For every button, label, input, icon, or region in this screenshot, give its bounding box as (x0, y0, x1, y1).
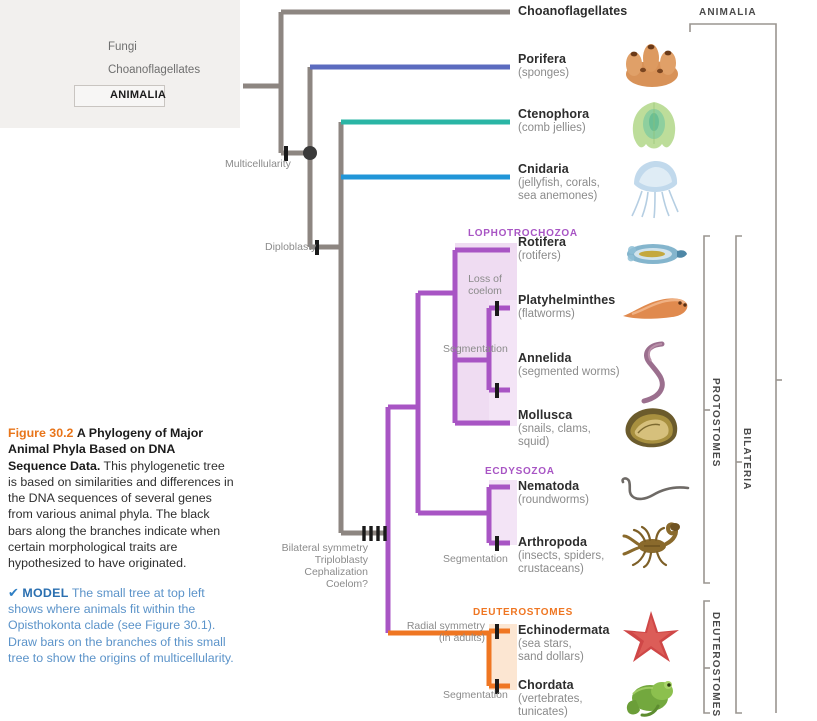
figure-number: Figure 30.2 (8, 426, 73, 440)
taxon-common-arthropoda-1: (insects, spiders, (518, 550, 604, 564)
inset-label-fungi: Fungi (108, 41, 137, 53)
trait-label-loss-of-coelom-2: coelom (457, 285, 513, 297)
trait-label-segmentation-annelida: Segmentation (443, 343, 508, 355)
bracket-label-deuterostomes: DEUTEROSTOMES (710, 612, 721, 717)
taxon-common-echinodermata-1: (sea stars, (518, 638, 572, 652)
illustration-earthworm (632, 340, 680, 404)
trait-label-multicellularity: Multicellularity (225, 158, 291, 170)
trait-label-radial-symmetry-1: Radial symmetry (382, 620, 485, 632)
trait-label-segmentation-chordata: Segmentation (443, 689, 508, 701)
trait-label-bilateral-symmetry: Bilateral symmetry (268, 542, 368, 554)
figure-canvas: Fungi Choanoflagellates ANIMALIA Choanof… (0, 0, 817, 721)
clade-label-lophotrochozoa: LOPHOTROCHOZOA (468, 228, 578, 239)
taxon-common-cnidaria-1: (jellyfish, corals, (518, 177, 600, 191)
taxon-label-annelida: Annelida (518, 352, 572, 365)
taxon-common-mollusca-1: (snails, clams, (518, 423, 591, 437)
taxon-common-chordata-2: tunicates) (518, 706, 568, 720)
trait-label-cephalization: Cephalization (268, 566, 368, 578)
illustration-sea-star (620, 608, 682, 666)
taxon-common-porifera: (sponges) (518, 67, 569, 81)
taxon-common-arthropoda-2: crustaceans) (518, 563, 584, 577)
bracket-label-animalia: ANIMALIA (699, 7, 757, 18)
illustration-frog (622, 672, 678, 718)
illustration-flatworm (620, 292, 690, 324)
multicellularity-node-dot (303, 146, 317, 160)
trait-label-coelom: Coelom? (268, 578, 368, 590)
ecdysozoa-shading (489, 480, 517, 545)
clade-label-ecdysozoa: ECDYSOZOA (485, 466, 555, 477)
inset-label-choanoflagellates: Choanoflagellates (108, 64, 200, 76)
illustration-sponge (620, 40, 684, 88)
taxon-label-platyhelminthes: Platyhelminthes (518, 294, 615, 307)
bracket-label-protostomes: PROTOSTOMES (710, 378, 721, 468)
illustration-jellyfish (626, 158, 684, 220)
taxon-common-rotifera: (rotifers) (518, 250, 561, 264)
taxon-label-chordata: Chordata (518, 679, 574, 692)
taxon-label-porifera: Porifera (518, 53, 566, 66)
figure-body: This phylogenetic tree is based on simil… (8, 459, 234, 571)
illustration-roundworm (618, 476, 690, 506)
deuterostomes-shading (489, 624, 517, 690)
taxon-common-chordata-1: (vertebrates, (518, 693, 583, 707)
taxon-label-echinodermata: Echinodermata (518, 624, 610, 637)
taxon-label-nematoda: Nematoda (518, 480, 579, 493)
bracket-label-bilateria: BILATERIA (741, 428, 752, 491)
trait-label-diploblasty: Diploblasty (265, 241, 316, 253)
taxon-common-platyhelminthes: (flatworms) (518, 308, 575, 322)
taxon-label-mollusca: Mollusca (518, 409, 572, 422)
illustration-scorpion (620, 520, 688, 570)
model-prompt: ✔ MODEL The small tree at top left shows… (8, 585, 235, 666)
clade-label-deuterostomes: DEUTEROSTOMES (473, 607, 573, 618)
taxon-common-mollusca-2: squid) (518, 436, 549, 450)
taxon-common-cnidaria-2: sea anemones) (518, 190, 597, 204)
figure-caption: Figure 30.2 A Phylogeny of Major Animal … (8, 425, 235, 666)
platy-annelida-shading (489, 300, 517, 426)
checkmark-icon: ✔ (8, 585, 19, 600)
model-tag: MODEL (22, 586, 68, 600)
inset-label-animalia: ANIMALIA (110, 89, 166, 101)
illustration-comb-jelly (628, 100, 680, 152)
bracket-animalia (690, 24, 776, 713)
taxon-common-annelida: (segmented worms) (518, 366, 620, 380)
protostome-branches (388, 250, 510, 633)
taxon-common-ctenophora: (comb jellies) (518, 122, 586, 136)
taxon-common-echinodermata-2: sand dollars) (518, 651, 584, 665)
taxon-label-ctenophora: Ctenophora (518, 108, 589, 121)
taxon-label-choanoflagellates: Choanoflagellates (518, 5, 627, 18)
bracket-lines (690, 24, 782, 713)
taxon-common-nematoda: (roundworms) (518, 494, 589, 508)
illustration-rotifer (622, 238, 688, 270)
taxon-label-cnidaria: Cnidaria (518, 163, 569, 176)
trait-label-radial-symmetry-2: (in adults) (382, 632, 485, 644)
illustration-clam (620, 404, 682, 452)
trait-label-segmentation-arthropoda: Segmentation (443, 553, 508, 565)
trait-label-loss-of-coelom-1: Loss of (457, 273, 513, 285)
taxon-label-arthropoda: Arthropoda (518, 536, 587, 549)
trait-label-triploblasty: Triploblasty (268, 554, 368, 566)
